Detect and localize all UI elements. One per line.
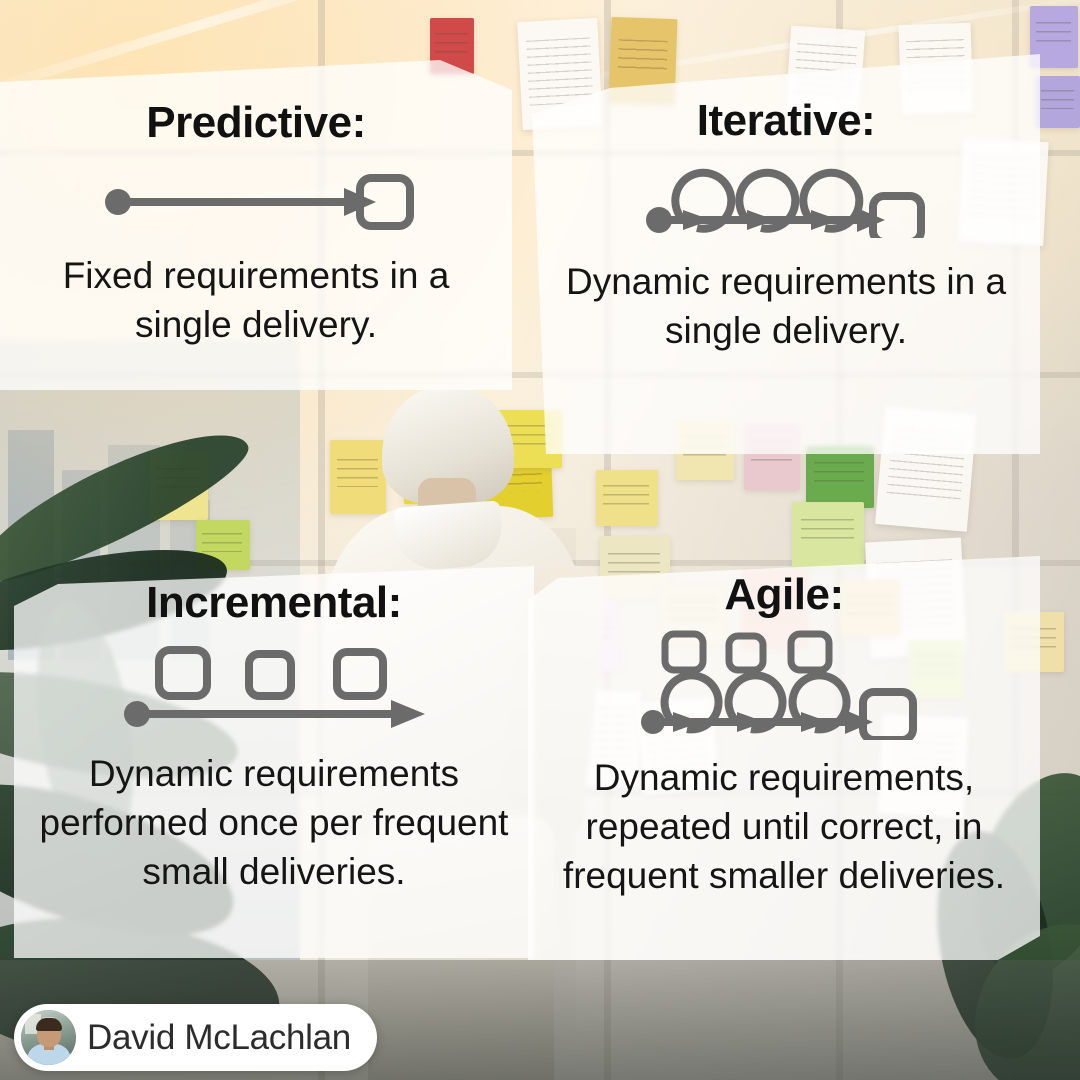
predictive-diagram (96, 160, 416, 230)
increment-box-icon (729, 636, 763, 670)
card-description-iterative: Dynamic requirements in a single deliver… (551, 258, 1021, 356)
avatar (21, 1010, 76, 1065)
card-title-iterative: Iterative: (532, 98, 1040, 144)
card-incremental: Incremental: Dynamic requirements perfor… (14, 580, 534, 897)
sticky-note (806, 446, 874, 508)
increment-box-icon (337, 652, 383, 696)
increment-box-icon (791, 634, 829, 670)
card-agile: Agile: Dynamic requirements, repeated un… (528, 572, 1040, 901)
sticky-note (596, 470, 658, 526)
increment-box-icon (249, 654, 291, 696)
attribution-badge[interactable]: David McLachlan (14, 1004, 377, 1071)
card-title-incremental: Incremental: (14, 580, 534, 626)
card-description-agile: Dynamic requirements, repeated until cor… (539, 754, 1029, 900)
author-name: David McLachlan (87, 1018, 351, 1058)
arrowhead-icon (391, 700, 425, 728)
sticky-note (792, 502, 864, 568)
sticky-note (1036, 76, 1080, 128)
iterative-diagram (641, 158, 931, 238)
card-description-incremental: Dynamic requirements performed once per … (24, 750, 524, 896)
card-title-agile: Agile: (528, 572, 1040, 618)
card-predictive: Predictive: Fixed requirements in a sing… (0, 100, 512, 350)
card-title-predictive: Predictive: (0, 100, 512, 146)
increment-box-icon (159, 650, 207, 696)
agile-diagram (639, 628, 929, 740)
delivery-box-icon (863, 692, 913, 740)
avatar-hair (36, 1018, 62, 1031)
card-description-predictive: Fixed requirements in a single delivery. (26, 252, 486, 350)
card-iterative: Iterative: Dynamic requirements in a sin… (532, 98, 1040, 356)
incremental-diagram (119, 638, 429, 730)
infographic-canvas: Predictive: Fixed requirements in a sing… (0, 0, 1080, 1080)
delivery-box-icon (873, 196, 921, 238)
increment-box-icon (665, 634, 703, 670)
